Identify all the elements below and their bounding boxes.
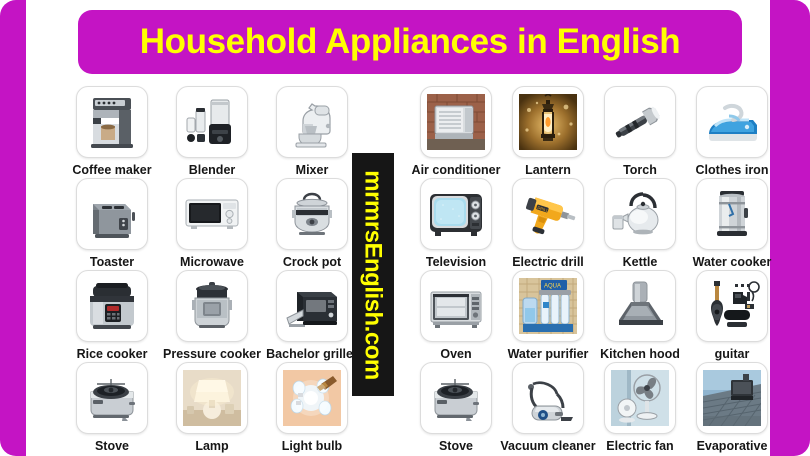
right-appliance-grid: Air conditionerLanternTorchClothes ironT…	[410, 86, 778, 454]
appliance-image-card	[276, 270, 348, 342]
appliance-image-card	[420, 178, 492, 250]
appliance-label: Lamp	[195, 439, 228, 453]
svg-text:AQUA: AQUA	[544, 284, 561, 290]
left-border-bar	[0, 0, 26, 456]
appliance-label: Rice cooker	[77, 347, 148, 361]
clothes-iron-icon	[703, 94, 761, 150]
oven-icon	[427, 278, 485, 334]
appliance-label: Clothes iron	[696, 163, 769, 177]
appliance-label: Water cooker	[693, 255, 772, 269]
evaporative-cooler-icon	[703, 370, 761, 426]
appliance-image-card	[76, 178, 148, 250]
appliance-label: Stove	[95, 439, 129, 453]
appliance-image-card	[604, 178, 676, 250]
appliance-cell: AQUAWater purifier	[502, 270, 594, 362]
appliance-image-card	[276, 362, 348, 434]
water-purifier-icon: AQUA	[519, 278, 577, 334]
appliance-image-card	[276, 178, 348, 250]
appliance-cell: Vacuum cleaner	[502, 362, 594, 454]
television-icon	[427, 186, 485, 242]
appliance-image-card	[420, 362, 492, 434]
appliance-label: Television	[426, 255, 486, 269]
appliance-image-card	[512, 362, 584, 434]
microwave-icon	[183, 186, 241, 242]
appliance-cell: guitar	[686, 270, 778, 362]
stove-icon	[427, 370, 485, 426]
appliance-label: Bachelor griller	[266, 347, 358, 361]
appliance-label: Microwave	[180, 255, 244, 269]
appliance-image-card	[696, 178, 768, 250]
appliance-image-card	[276, 86, 348, 158]
coffee-maker-icon	[83, 94, 141, 150]
appliance-label: Lantern	[525, 163, 571, 177]
air-conditioner-icon	[427, 94, 485, 150]
appliance-label: Coffee maker	[72, 163, 151, 177]
appliance-cell: Evaporative	[686, 362, 778, 454]
appliance-image-card: DRILL	[512, 178, 584, 250]
torch-icon	[611, 94, 669, 150]
appliance-image-card	[76, 362, 148, 434]
appliance-label: Evaporative	[697, 439, 768, 453]
appliance-cell: Torch	[594, 86, 686, 178]
appliance-cell: Kitchen hood	[594, 270, 686, 362]
appliance-cell: Kettle	[594, 178, 686, 270]
appliance-cell: Mixer	[262, 86, 362, 178]
appliance-image-card	[604, 362, 676, 434]
appliance-image-card	[512, 86, 584, 158]
lantern-icon	[519, 94, 577, 150]
appliance-label: Mixer	[296, 163, 329, 177]
appliance-image-card	[176, 270, 248, 342]
appliance-image-card	[696, 86, 768, 158]
electric-fan-icon	[611, 370, 669, 426]
mixer-icon	[283, 94, 341, 150]
appliance-label: Kettle	[623, 255, 658, 269]
appliance-label: Toaster	[90, 255, 134, 269]
appliance-label: Electric fan	[606, 439, 673, 453]
appliance-cell: Toaster	[62, 178, 162, 270]
appliance-cell: Pressure cooker	[162, 270, 262, 362]
guitar-icon	[703, 278, 761, 334]
bachelor-griller-icon	[283, 278, 341, 334]
appliance-image-card	[604, 270, 676, 342]
appliance-image-card	[176, 86, 248, 158]
appliance-cell: Rice cooker	[62, 270, 162, 362]
appliance-image-card	[176, 178, 248, 250]
appliance-image-card	[176, 362, 248, 434]
appliance-label: Oven	[440, 347, 471, 361]
watermark-bar: mrmrsEnglish.com	[352, 153, 394, 396]
appliance-label: Electric drill	[512, 255, 584, 269]
appliance-cell: Water cooker	[686, 178, 778, 270]
appliance-cell: Crock pot	[262, 178, 362, 270]
appliance-label: guitar	[715, 347, 750, 361]
appliance-cell: Electric fan	[594, 362, 686, 454]
appliance-image-card	[76, 86, 148, 158]
pressure-cooker-icon	[183, 278, 241, 334]
appliance-cell: Stove	[410, 362, 502, 454]
electric-drill-icon: DRILL	[519, 186, 577, 242]
kitchen-hood-icon	[611, 278, 669, 334]
appliance-cell: Light bulb	[262, 362, 362, 454]
title-banner: Household Appliances in English	[78, 10, 742, 74]
appliance-label: Pressure cooker	[163, 347, 261, 361]
crock-pot-icon	[283, 186, 341, 242]
appliance-cell: Blender	[162, 86, 262, 178]
appliance-cell: Air conditioner	[410, 86, 502, 178]
appliance-image-card: AQUA	[512, 270, 584, 342]
appliance-label: Torch	[623, 163, 657, 177]
appliance-cell: Lantern	[502, 86, 594, 178]
appliance-image-card	[696, 362, 768, 434]
poster-page: Household Appliances in English Coffee m…	[0, 0, 810, 456]
left-appliance-grid: Coffee makerBlenderMixerToasterMicrowave…	[62, 86, 362, 454]
appliance-image-card	[696, 270, 768, 342]
appliance-image-card	[76, 270, 148, 342]
appliance-cell: Television	[410, 178, 502, 270]
rice-cooker-icon	[83, 278, 141, 334]
lamp-icon	[183, 370, 241, 426]
appliance-label: Crock pot	[283, 255, 341, 269]
vacuum-cleaner-icon	[519, 370, 577, 426]
appliance-cell: DRILLElectric drill	[502, 178, 594, 270]
appliance-image-card	[604, 86, 676, 158]
appliance-image-card	[420, 86, 492, 158]
appliance-label: Blender	[189, 163, 236, 177]
blender-icon	[183, 94, 241, 150]
appliance-label: Water purifier	[508, 347, 589, 361]
toaster-icon	[83, 186, 141, 242]
appliance-label: Vacuum cleaner	[500, 439, 595, 453]
appliance-label: Light bulb	[282, 439, 342, 453]
appliance-label: Air conditioner	[412, 163, 501, 177]
stove-icon	[83, 370, 141, 426]
light-bulb-icon	[283, 370, 341, 426]
appliance-label: Stove	[439, 439, 473, 453]
watermark-text: mrmrsEnglish.com	[359, 170, 387, 379]
appliance-image-card	[420, 270, 492, 342]
water-cooker-icon	[703, 186, 761, 242]
page-title: Household Appliances in English	[140, 22, 681, 62]
appliance-cell: Lamp	[162, 362, 262, 454]
appliance-cell: Oven	[410, 270, 502, 362]
appliance-cell: Microwave	[162, 178, 262, 270]
kettle-icon	[611, 186, 669, 242]
appliance-label: Kitchen hood	[600, 347, 680, 361]
appliance-cell: Clothes iron	[686, 86, 778, 178]
appliance-cell: Bachelor griller	[262, 270, 362, 362]
appliance-cell: Stove	[62, 362, 162, 454]
appliance-cell: Coffee maker	[62, 86, 162, 178]
